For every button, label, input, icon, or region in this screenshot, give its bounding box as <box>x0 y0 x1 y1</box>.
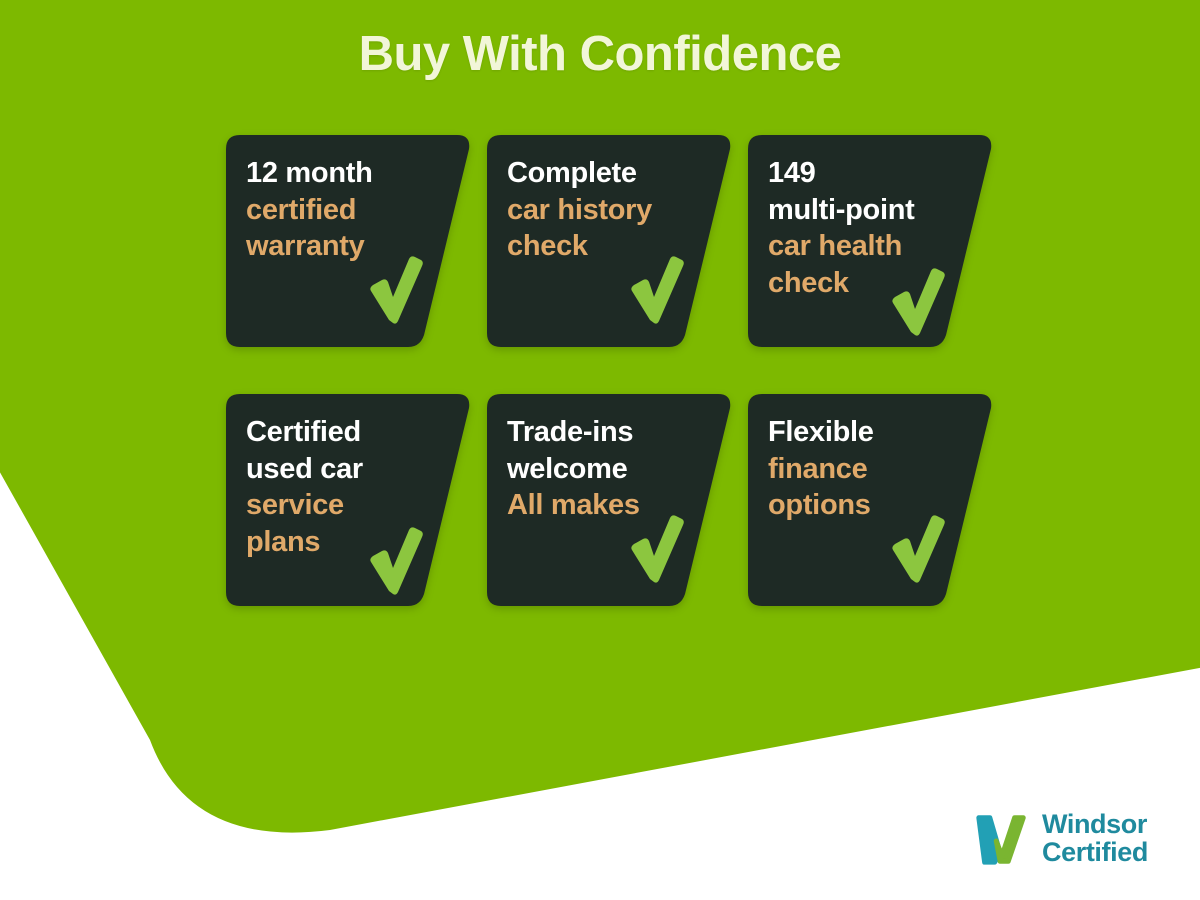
feature-cards-grid: 12 monthcertifiedwarrantyCompletecar his… <box>0 0 1200 900</box>
logo-wordmark: Windsor Certified <box>1042 811 1148 866</box>
card-background-shape <box>748 135 993 347</box>
windsor-w-icon <box>971 808 1033 870</box>
green-checkmark-icon <box>368 526 424 596</box>
windsor-certified-logo[interactable]: Windsor Certified <box>971 808 1148 870</box>
card-background-shape <box>748 394 993 606</box>
card-background-shape <box>487 394 732 606</box>
card-flexible-finance-options[interactable]: Flexiblefinanceoptions <box>748 394 993 606</box>
promo-banner: Buy With Confidence 12 monthcertifiedwar… <box>0 0 1200 900</box>
green-checkmark-icon <box>368 255 424 325</box>
card-trade-ins-welcome-all-makes[interactable]: Trade-inswelcomeAll makes <box>487 394 732 606</box>
card-certified-used-car-service-plans[interactable]: Certifiedused carserviceplans <box>226 394 471 606</box>
card-12-month-certified-warranty[interactable]: 12 monthcertifiedwarranty <box>226 135 471 347</box>
logo-line-windsor: Windsor <box>1042 811 1148 839</box>
page-title: Buy With Confidence <box>0 26 1200 82</box>
green-checkmark-icon <box>629 514 685 584</box>
card-background-shape <box>226 135 471 347</box>
logo-line-certified: Certified <box>1042 839 1148 867</box>
card-background-shape <box>487 135 732 347</box>
card-background-shape <box>226 394 471 606</box>
green-checkmark-icon <box>890 267 946 337</box>
green-checkmark-icon <box>890 514 946 584</box>
green-checkmark-icon <box>629 255 685 325</box>
card-complete-car-history-check[interactable]: Completecar historycheck <box>487 135 732 347</box>
card-149-multi-point-car-health-check[interactable]: 149multi-pointcar healthcheck <box>748 135 993 347</box>
